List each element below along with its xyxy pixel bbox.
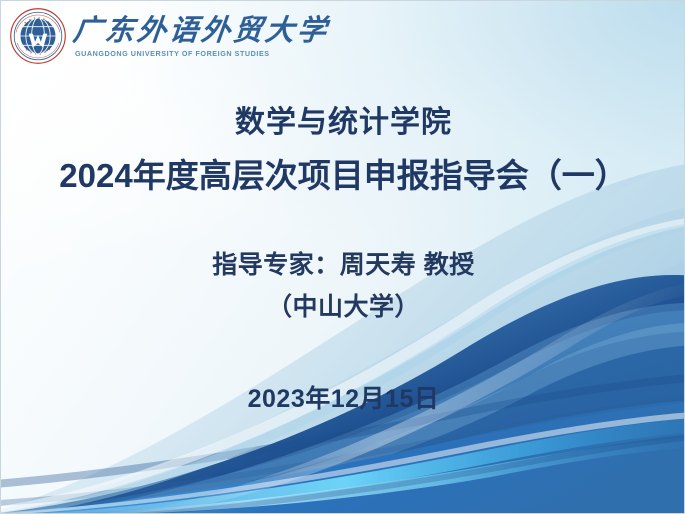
- university-wordmark: 广东外语外贸大学 GUANGDONG UNIVERSITY OF FOREIGN…: [73, 14, 329, 57]
- slide-title-line-2: 2024年度高层次项目申报指导会（一）: [1, 156, 685, 196]
- gdufs-globe-emblem-icon: [9, 7, 67, 65]
- presenter-expert-line: 指导专家：周天寿 教授: [1, 250, 685, 281]
- presenter-affiliation-line: （中山大学）: [1, 292, 685, 323]
- university-name-cn: 广东外语外贸大学: [71, 16, 330, 46]
- presentation-slide: 广东外语外贸大学 GUANGDONG UNIVERSITY OF FOREIGN…: [0, 0, 685, 514]
- slide-date: 2023年12月15日: [1, 384, 685, 415]
- university-name-en: GUANGDONG UNIVERSITY OF FOREIGN STUDIES: [73, 49, 329, 58]
- university-logo: 广东外语外贸大学 GUANGDONG UNIVERSITY OF FOREIGN…: [9, 7, 329, 65]
- slide-title-line-1: 数学与统计学院: [1, 105, 685, 141]
